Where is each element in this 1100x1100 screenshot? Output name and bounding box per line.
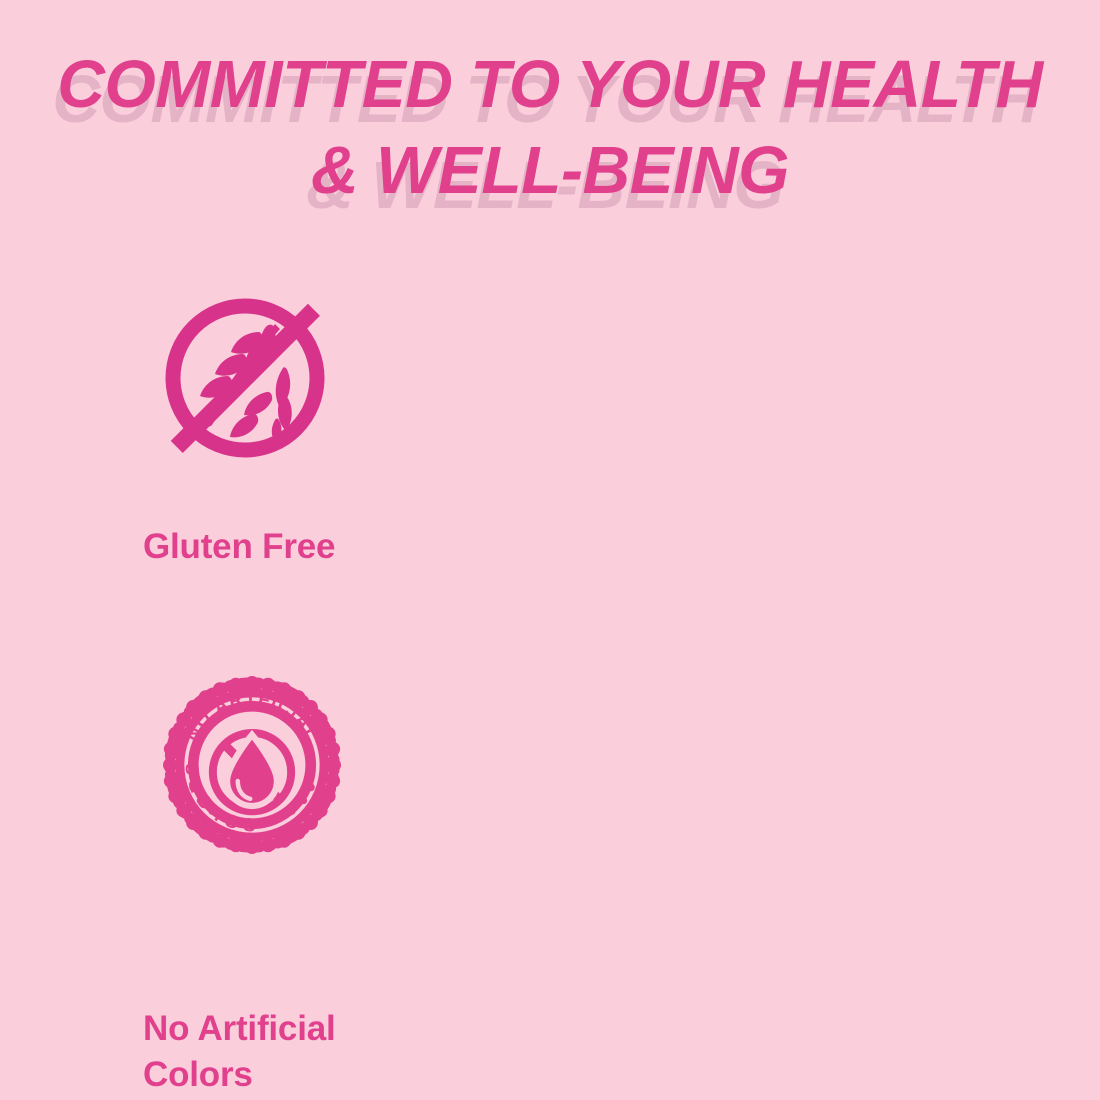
feature-badge-grid: Gluten Free — [0, 296, 1100, 1056]
feature-badge-no-added-sugar: NO SUGAR ADDED No Added Sugar — [400, 676, 1100, 1056]
no-artificial-colors-seal-icon: NO ARTFICIAL COLORS — [163, 676, 341, 854]
badge-label-no-artificial-colors: No Artificial Colors Or Flavours — [143, 1006, 400, 1100]
feature-badge-natural-herbs: Natural Herbs — [400, 296, 1100, 676]
headline-line-1: COMMITTED TO YOUR HEALTH — [8, 52, 1092, 118]
page-title: COMMITTED TO YOUR HEALTH & WELL-BEING — [0, 52, 1100, 203]
badge-label-gluten-free: Gluten Free — [143, 524, 335, 570]
feature-badge-gluten-free: Gluten Free — [0, 296, 400, 676]
no-gluten-icon — [163, 296, 327, 460]
feature-badge-no-artificial-colors: NO ARTFICIAL COLORS — [0, 676, 400, 1056]
promo-banner: COMMITTED TO YOUR HEALTH & WELL-BEING — [0, 0, 1100, 1100]
headline-line-2: & WELL-BEING — [8, 138, 1092, 204]
